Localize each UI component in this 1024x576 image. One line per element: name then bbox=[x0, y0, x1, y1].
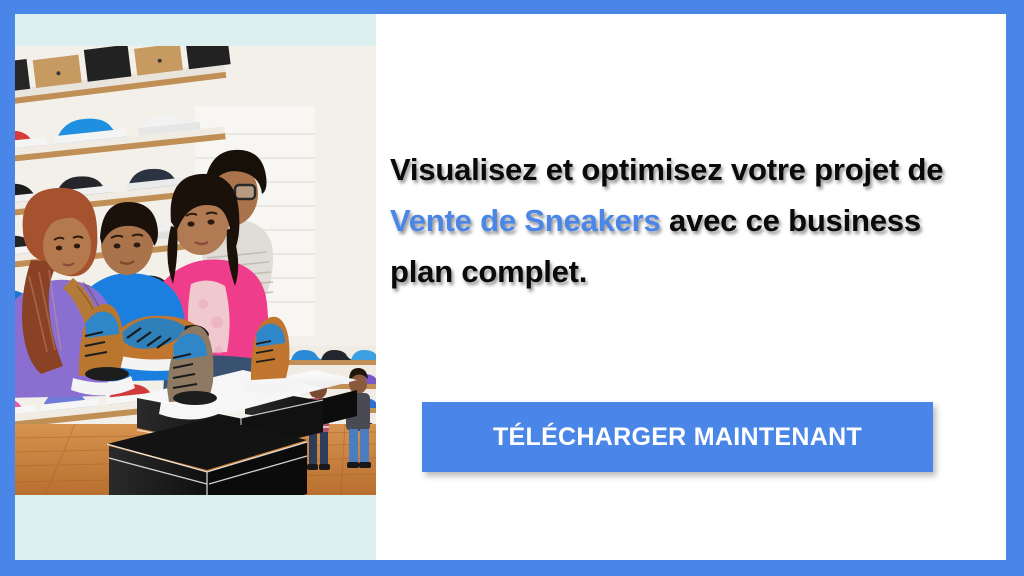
sneaker-store-photo bbox=[15, 46, 376, 495]
sneaker-store-photo-panel bbox=[15, 14, 376, 560]
download-now-button[interactable]: TÉLÉCHARGER MAINTENANT bbox=[422, 402, 933, 472]
headline-part1: Visualisez et optimisez votre projet de bbox=[390, 152, 943, 187]
headline-accent: Vente de Sneakers bbox=[390, 203, 661, 238]
content-panel: Visualisez et optimisez votre projet de … bbox=[376, 14, 1006, 560]
promo-banner: Visualisez et optimisez votre projet de … bbox=[0, 0, 1024, 576]
headline: Visualisez et optimisez votre projet de … bbox=[390, 144, 962, 297]
banner-inner-frame: Visualisez et optimisez votre projet de … bbox=[15, 14, 1006, 560]
